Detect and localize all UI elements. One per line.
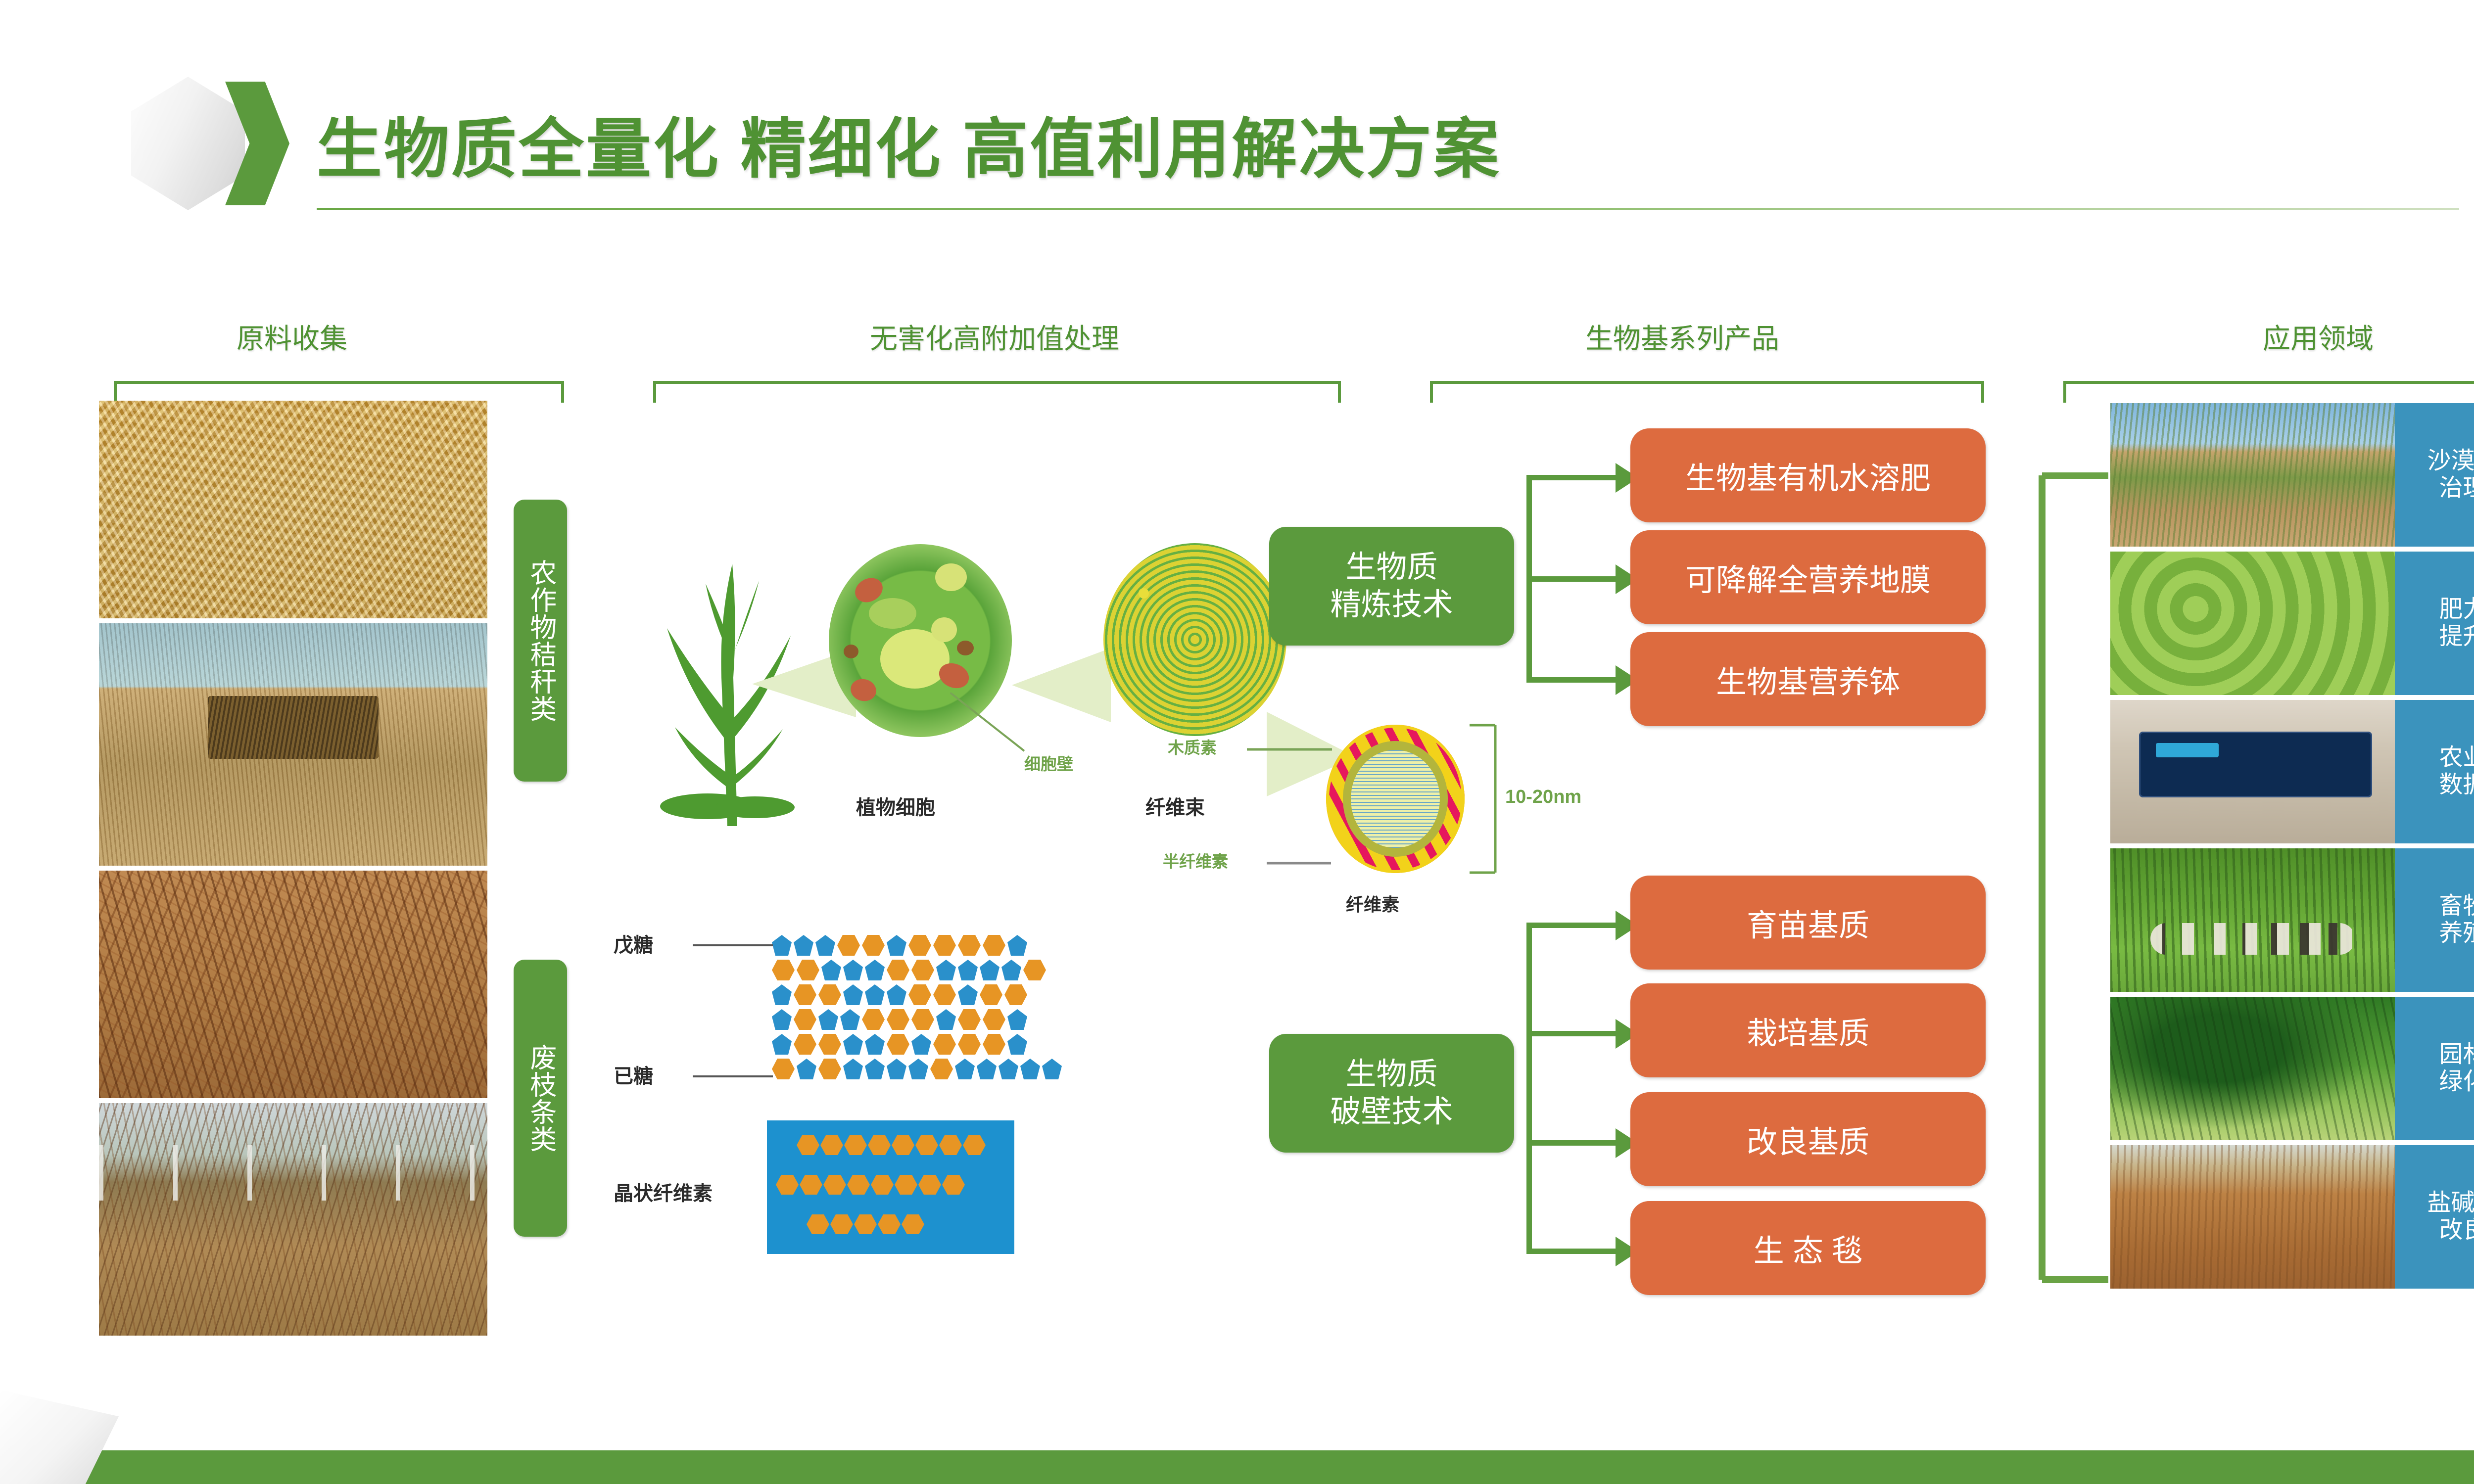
section-header-products: 生物基系列产品	[1435, 317, 1930, 357]
footer-bar	[0, 1450, 2474, 1484]
organelle-body-2	[844, 645, 858, 658]
application-landscaping-line2: 绿化	[2439, 1068, 2474, 1096]
infographic-canvas: 生物质全量化 精细化 高值利用解决方案 原料收集 无害化高附加值处理 生物基系列…	[0, 0, 2474, 1484]
feedstock-photo-branches	[99, 871, 487, 1098]
application-row-fertility[interactable]: 肥力 提升	[2110, 552, 2474, 695]
application-landscaping-line1: 园林	[2439, 1041, 2474, 1068]
application-data-line1: 农业	[2439, 744, 2474, 772]
application-row-landscaping[interactable]: 园林 绿化	[2110, 997, 2474, 1140]
application-desert-line1: 沙漠化	[2427, 448, 2474, 475]
application-data-line2: 数据	[2439, 772, 2474, 799]
label-cellulose: 纤维素	[1346, 890, 1399, 916]
application-tag-desert: 沙漠化 治理	[2395, 403, 2474, 547]
feedstock-photo-column	[99, 401, 487, 1336]
application-row-desert[interactable]: 沙漠化 治理	[2110, 403, 2474, 547]
application-column: 沙漠化 治理 肥力 提升 农业 数据 畜牧 养殖	[2110, 403, 2474, 1338]
title-underline-divider	[317, 208, 2459, 210]
application-photo-desert	[2110, 403, 2395, 547]
product-box-soluble-fertilizer[interactable]: 生物基有机水溶肥	[1630, 428, 1986, 522]
arrow-fan-wall-breaking	[1526, 923, 1650, 1254]
feedstock-photo-straw-bale	[99, 623, 487, 866]
feedstock-photo-vineyard	[99, 1103, 487, 1336]
hemicellulose-leader-line	[1267, 858, 1336, 868]
sugar-chain-diagram	[772, 935, 1188, 1088]
application-photo-saline	[2110, 1145, 2395, 1289]
product-box-seedling-substrate[interactable]: 育苗基质	[1630, 876, 1986, 970]
application-photo-cabbage	[2110, 552, 2395, 695]
feedstock-photo-corn-stalk	[99, 401, 487, 618]
organelle-vacuole	[935, 563, 967, 591]
tech-wall-line1: 生物质	[1345, 1056, 1437, 1093]
application-photo-park	[2110, 997, 2395, 1140]
tech-refining-line2: 精炼技术	[1330, 586, 1453, 624]
section-bracket-feedstock	[114, 381, 564, 403]
application-tag-landscaping: 园林 绿化	[2395, 997, 2474, 1140]
section-header-processing: 无害化高附加值处理	[722, 317, 1267, 357]
cellulose-cross-section	[1326, 725, 1465, 873]
label-hemicellulose: 半纤维素	[1163, 848, 1228, 872]
section-bracket-products	[1430, 381, 1984, 403]
products-to-applications-bracket	[2036, 472, 2110, 1284]
product-box-biodegradable-mulch[interactable]: 可降解全营养地膜	[1630, 530, 1986, 624]
label-lignin: 木质素	[1168, 735, 1217, 758]
page-title: 生物质全量化 精细化 高值利用解决方案	[317, 96, 1501, 191]
feedstock-label-crop-straw: 农作物秸秆类	[514, 500, 567, 782]
feedstock-label-waste-branch: 废枝条类	[514, 960, 567, 1237]
product-box-cultivation-substrate[interactable]: 栽培基质	[1630, 983, 1986, 1077]
label-hexose: 已糖	[614, 1060, 653, 1089]
label-fiber-bundle: 纤维束	[1145, 791, 1205, 820]
application-photo-datacenter	[2110, 700, 2395, 843]
hexagon-badge-icon	[131, 77, 245, 210]
application-row-data[interactable]: 农业 数据	[2110, 700, 2474, 843]
section-header-feedstock: 原料收集	[153, 317, 430, 357]
cellulose-core-mesh	[1351, 750, 1439, 848]
label-pentose: 戊糖	[614, 929, 653, 958]
label-plant-cell: 植物细胞	[856, 791, 935, 820]
organelle-vesicle	[931, 617, 957, 642]
application-photo-sheep	[2110, 848, 2395, 992]
application-row-livestock[interactable]: 畜牧 养殖	[2110, 848, 2474, 992]
application-fertility-line1: 肥力	[2439, 596, 2474, 623]
section-header-applications: 应用领域	[2165, 317, 2472, 357]
application-tag-fertility: 肥力 提升	[2395, 552, 2474, 695]
tech-refining-line1: 生物质	[1345, 549, 1437, 586]
application-tag-data: 农业 数据	[2395, 700, 2474, 843]
crystalline-cellulose-panel	[767, 1120, 1014, 1254]
application-livestock-line2: 养殖	[2439, 920, 2474, 947]
dimension-bracket	[1470, 723, 1504, 877]
product-box-ecological-blanket[interactable]: 生 态 毯	[1630, 1201, 1986, 1295]
hexose-leader-line	[693, 1072, 777, 1080]
label-crystalline-cellulose: 晶状纤维素	[614, 1177, 713, 1206]
application-saline-line2: 改良	[2439, 1217, 2474, 1244]
sugar-chain-svg	[772, 935, 1188, 1088]
organelle-body	[957, 641, 974, 655]
product-box-nutrient-pot[interactable]: 生物基营养钵	[1630, 632, 1986, 726]
tech-wall-line2: 破壁技术	[1330, 1093, 1453, 1131]
label-cell-wall: 细胞壁	[1024, 751, 1073, 775]
pentose-leader-line	[693, 941, 777, 949]
fiber-bundle-illustration	[1103, 543, 1286, 736]
label-dimension: 10-20nm	[1505, 787, 1581, 808]
product-box-improvement-substrate[interactable]: 改良基质	[1630, 1092, 1986, 1186]
section-bracket-applications	[2063, 381, 2474, 403]
application-tag-livestock: 畜牧 养殖	[2395, 848, 2474, 992]
application-livestock-line1: 畜牧	[2439, 893, 2474, 920]
tech-box-refining[interactable]: 生物质 精炼技术	[1269, 527, 1514, 646]
section-bracket-processing	[653, 381, 1341, 403]
crystalline-lattice-svg	[767, 1120, 1014, 1254]
page-header: 生物质全量化 精细化 高值利用解决方案	[0, 0, 2474, 232]
lignin-leader-line	[1247, 744, 1336, 754]
organelle-chloroplast	[869, 598, 916, 629]
tech-box-wall-breaking[interactable]: 生物质 破壁技术	[1269, 1034, 1514, 1153]
application-saline-line1: 盐碱地	[2427, 1190, 2474, 1217]
application-row-saline[interactable]: 盐碱地 改良	[2110, 1145, 2474, 1289]
organelle-mitochondrion-3	[849, 676, 879, 703]
application-desert-line2: 治理	[2439, 475, 2474, 502]
application-tag-saline: 盐碱地 改良	[2395, 1145, 2474, 1289]
application-fertility-line2: 提升	[2439, 623, 2474, 650]
